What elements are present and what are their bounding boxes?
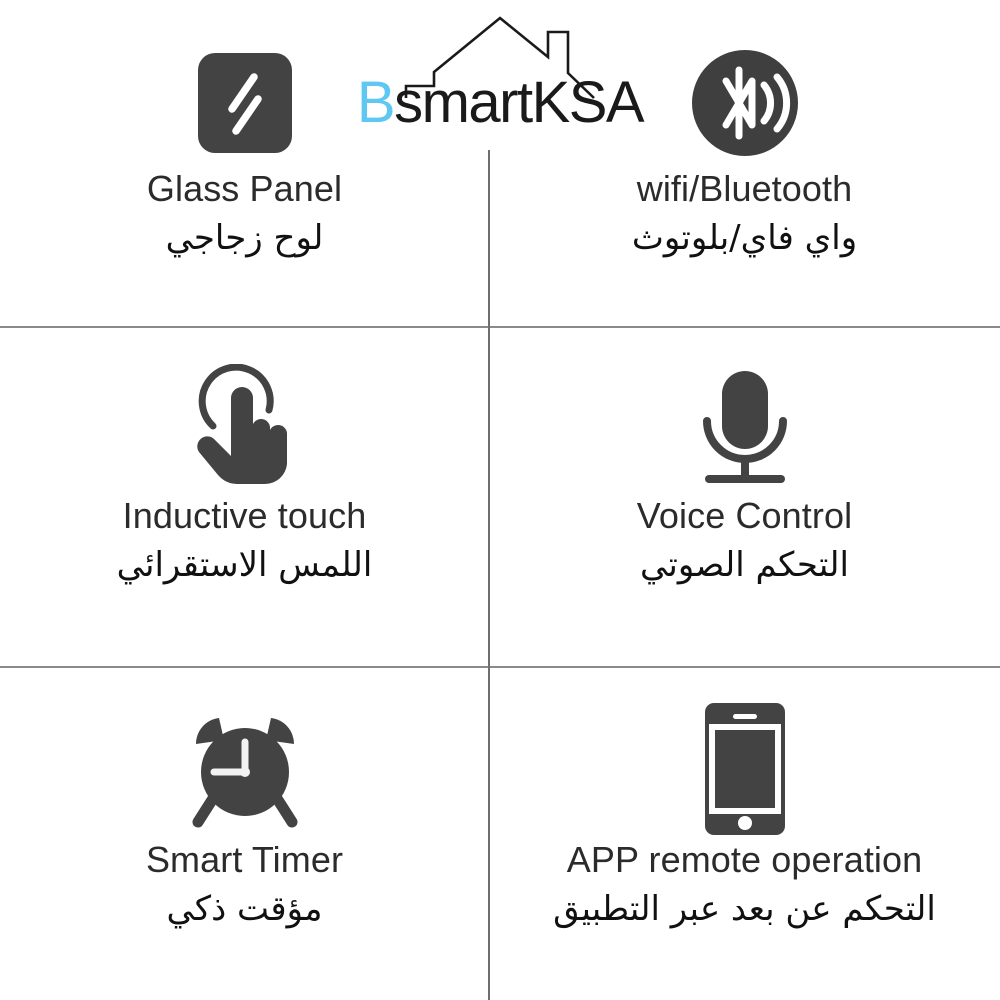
brand-name-initial: B — [357, 70, 394, 135]
microphone-icon — [689, 355, 801, 495]
feature-cell-smart-timer: Smart Timer مؤقت ذكي — [0, 667, 489, 1000]
feature-label-ar: واي فاي/بلوتوث — [632, 216, 857, 260]
divider-horizontal-bottom — [0, 666, 1000, 668]
feature-label-ar: لوح زجاجي — [166, 216, 324, 260]
feature-label-en: Smart Timer — [146, 839, 343, 881]
feature-cell-voice-control: Voice Control التحكم الصوتي — [489, 327, 1000, 667]
smartphone-icon — [703, 699, 787, 839]
features-grid: Glass Panel لوح زجاجي wifi/Bluetooth واي… — [0, 0, 1000, 1000]
feature-label-ar: اللمس الاستقرائي — [117, 543, 373, 587]
divider-horizontal-top — [0, 326, 1000, 328]
feature-label-en: wifi/Bluetooth — [637, 168, 853, 210]
divider-vertical — [488, 0, 490, 1000]
touch-hand-icon — [187, 355, 303, 495]
brand-wordmark: BsmartKSA — [330, 74, 670, 132]
feature-label-ar: التحكم الصوتي — [640, 543, 849, 587]
feature-grid-infographic: BsmartKSA Glass Panel لوح زجاجي — [0, 0, 1000, 1000]
wifi-bluetooth-icon — [690, 38, 800, 168]
feature-label-en: Inductive touch — [123, 495, 367, 537]
feature-label-ar: التحكم عن بعد عبر التطبيق — [553, 887, 936, 931]
feature-label-en: APP remote operation — [567, 839, 923, 881]
feature-cell-app-remote-operation: APP remote operation التحكم عن بعد عبر ا… — [489, 667, 1000, 1000]
brand-name-rest: smartKSA — [394, 70, 643, 135]
alarm-clock-icon — [186, 699, 304, 839]
feature-label-en: Voice Control — [637, 495, 852, 537]
feature-label-en: Glass Panel — [147, 168, 342, 210]
feature-cell-inductive-touch: Inductive touch اللمس الاستقرائي — [0, 327, 489, 667]
glass-panel-icon — [196, 38, 294, 168]
feature-label-ar: مؤقت ذكي — [167, 887, 323, 931]
brand-logo: BsmartKSA — [330, 12, 670, 142]
